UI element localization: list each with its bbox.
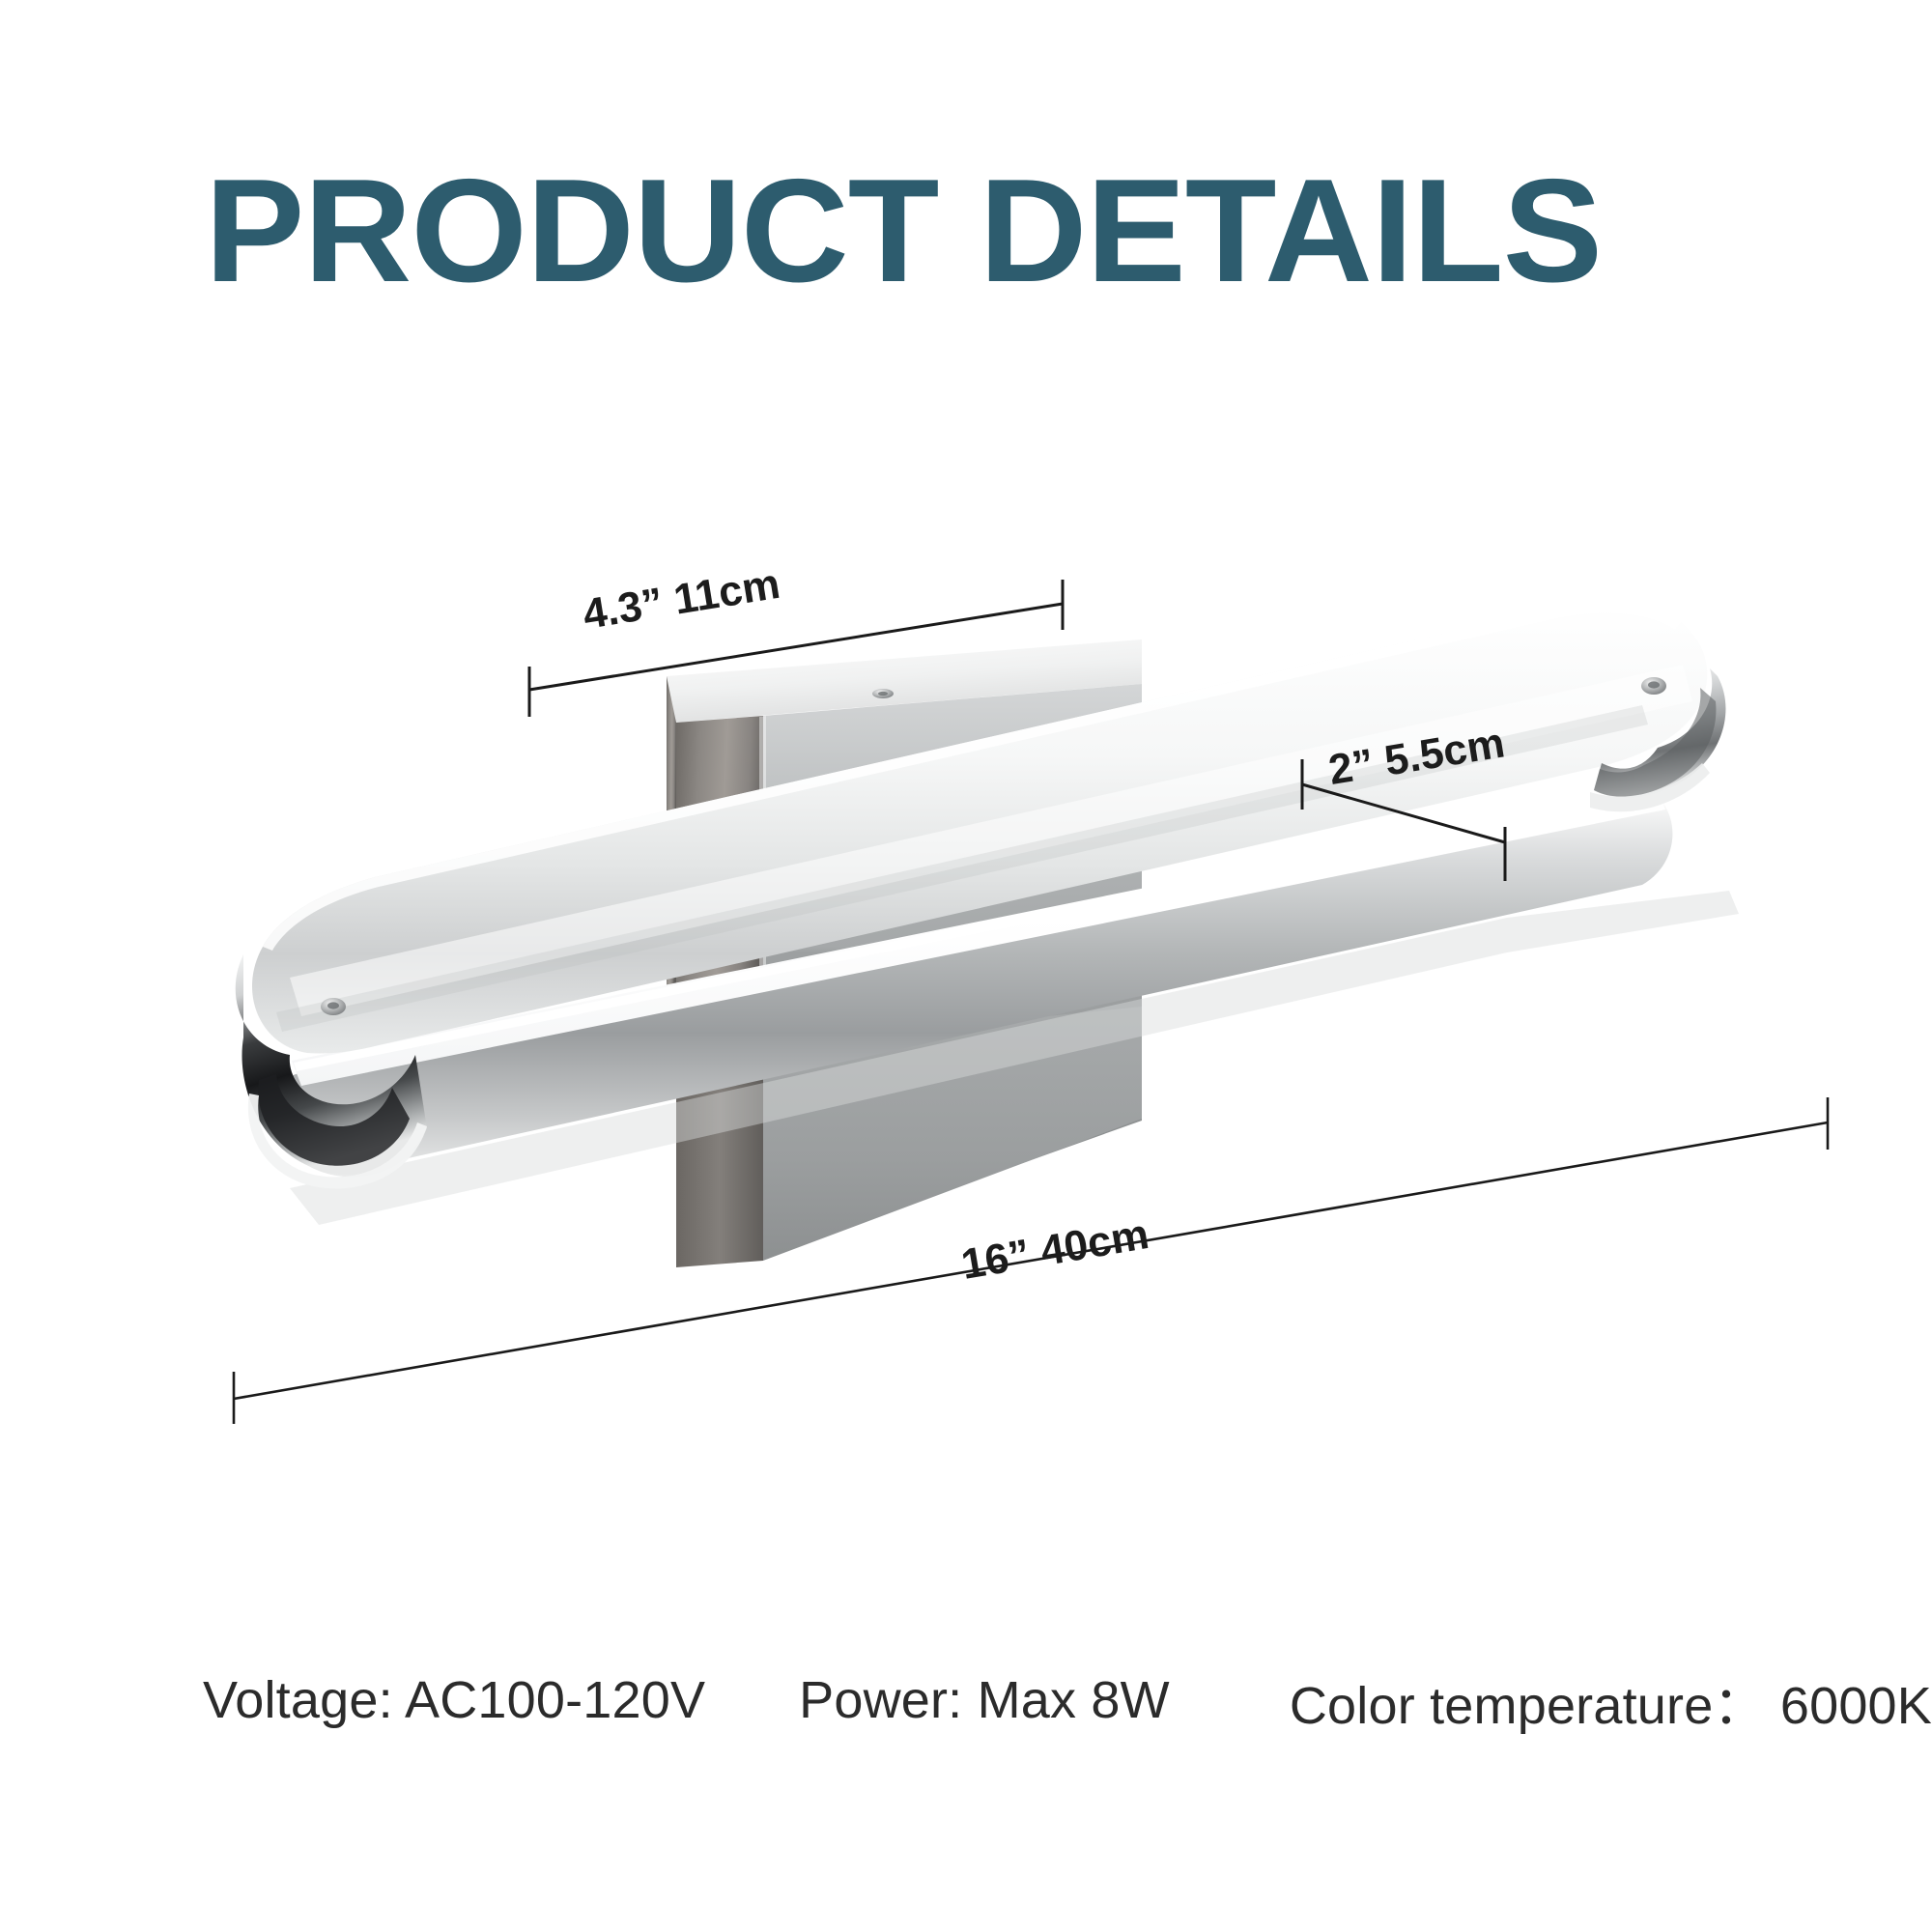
right-cap-screw-slot-icon bbox=[1648, 681, 1660, 688]
specification-row: Voltage: AC100-120V Power: Max 8W Color … bbox=[0, 1642, 1932, 1758]
spec-power: Power: Max 8W bbox=[799, 1670, 1170, 1730]
mount-box-screw-slot-icon bbox=[878, 692, 888, 696]
product-detail-canvas: PRODUCT DETAILS bbox=[0, 0, 1932, 1932]
spec-color-temperature: Color temperature： 6000K bbox=[1290, 1662, 1932, 1739]
spec-voltage: Voltage: AC100-120V bbox=[203, 1670, 705, 1730]
left-cap-screw-slot-icon bbox=[327, 1002, 339, 1009]
